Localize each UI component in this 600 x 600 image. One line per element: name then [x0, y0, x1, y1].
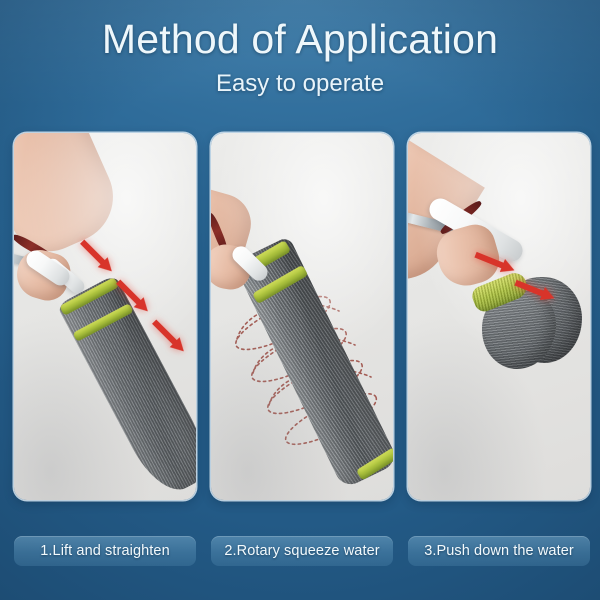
- direction-arrow-1: [77, 236, 117, 276]
- arrow-up-left-icon: [77, 236, 117, 276]
- product-infographic: Method of Application Easy to operate: [0, 0, 600, 600]
- caption-step-3: 3.Push down the water: [408, 536, 590, 566]
- page-title: Method of Application: [0, 18, 600, 61]
- step-panel-rotary: [211, 133, 393, 500]
- step-captions: 1.Lift and straighten 2.Rotary squeeze w…: [14, 536, 590, 566]
- steps-gallery: [14, 133, 590, 500]
- caption-step-1: 1.Lift and straighten: [14, 536, 196, 566]
- step-panel-push: [408, 133, 590, 500]
- caption-step-2: 2.Rotary squeeze water: [211, 536, 393, 566]
- page-subtitle: Easy to operate: [0, 70, 600, 98]
- header: Method of Application Easy to operate: [0, 18, 600, 98]
- mop-head: [48, 264, 196, 500]
- step-panel-lift: [14, 133, 196, 500]
